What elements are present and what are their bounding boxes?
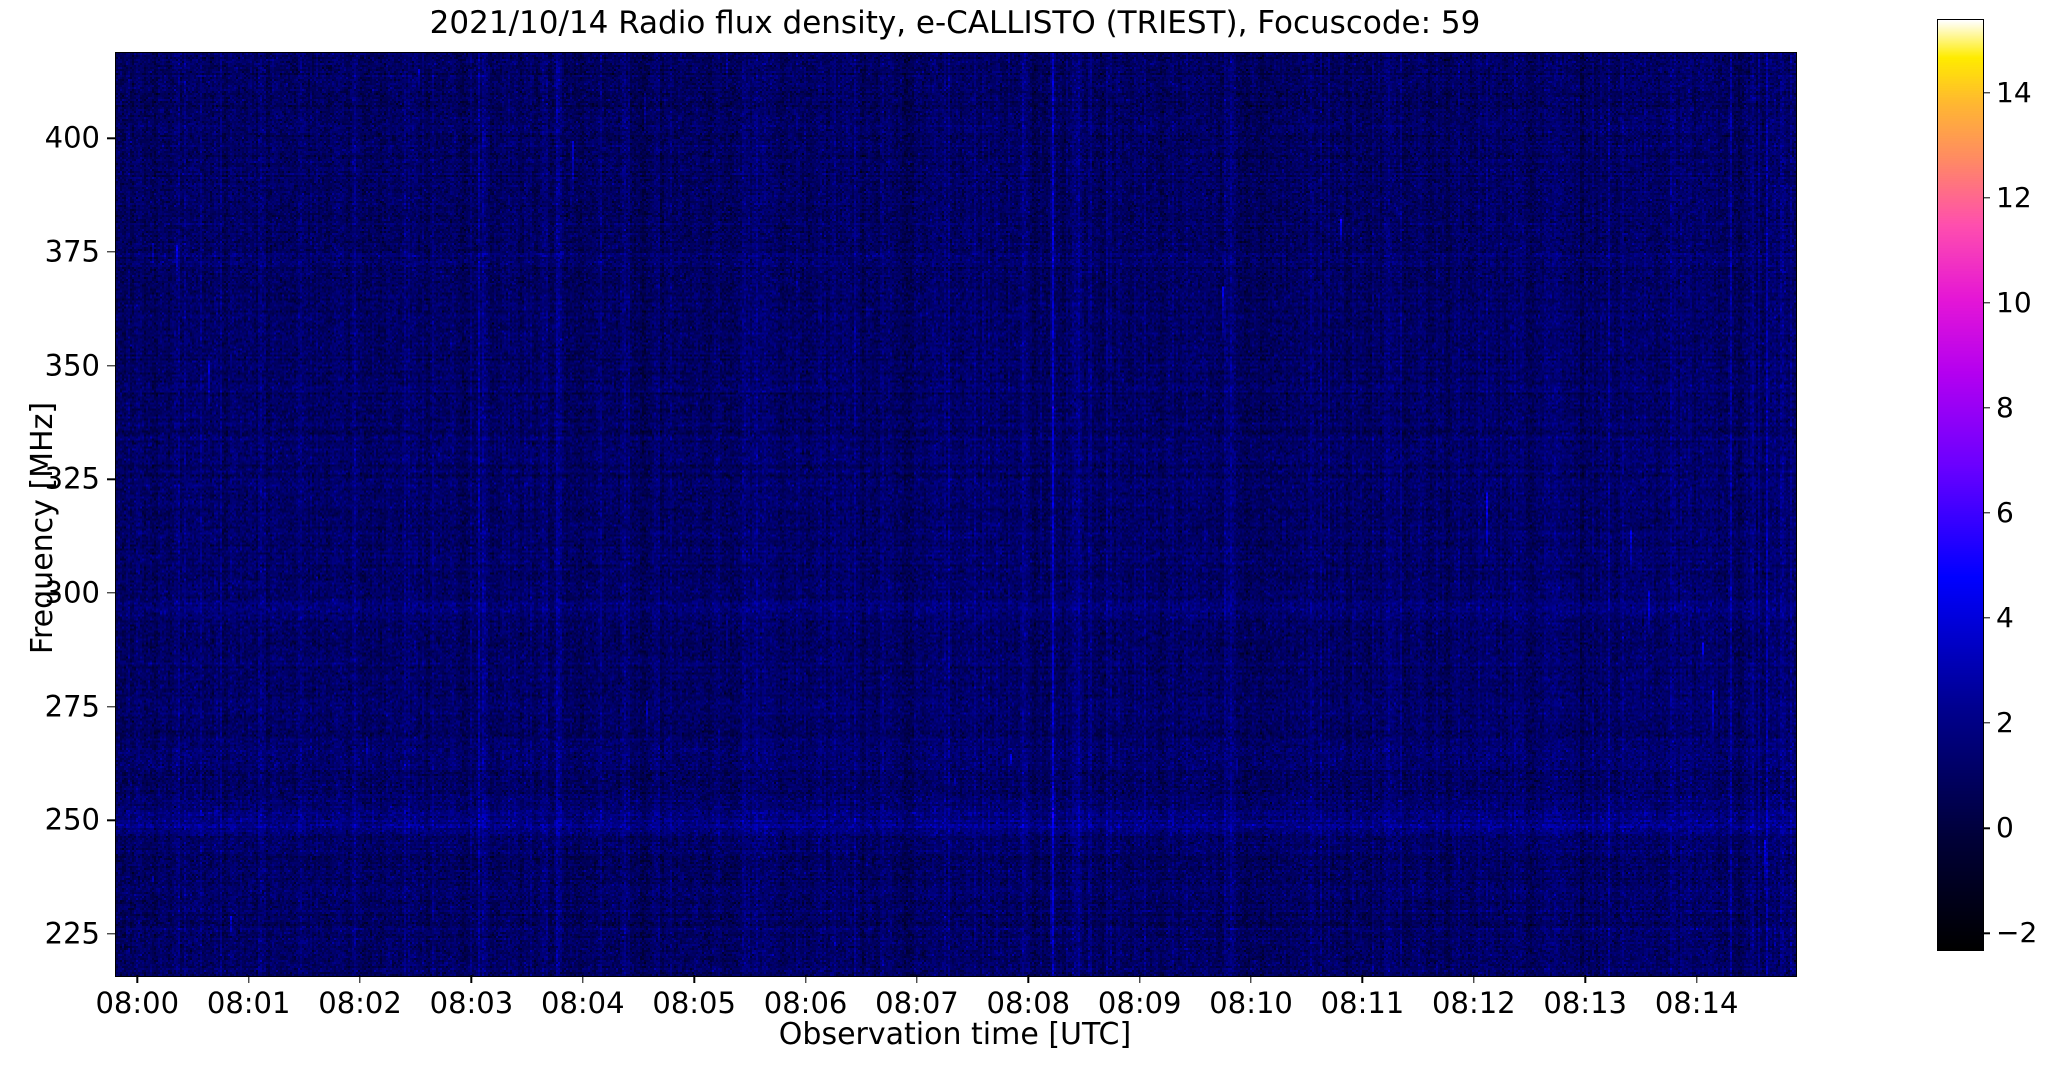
y-tick-label: 250: [5, 806, 100, 835]
x-tick-label: 08:04: [541, 989, 625, 1018]
spectrogram-image: [116, 53, 1796, 976]
colorbar-tick-label: 4: [1996, 604, 2014, 632]
colorbar-tick-label: 6: [1996, 499, 2014, 527]
x-tick-label: 08:01: [207, 989, 291, 1018]
y-tick-mark: [107, 365, 115, 366]
x-tick-label: 08:02: [318, 989, 402, 1018]
y-tick-mark: [107, 479, 115, 480]
page-title: 2021/10/14 Radio flux density, e-CALLIST…: [115, 4, 1795, 42]
spectrogram-axes: [115, 52, 1797, 977]
x-tick-label: 08:00: [95, 989, 179, 1018]
colorbar-tick-label: 12: [1996, 184, 2032, 212]
y-tick-mark: [107, 592, 115, 593]
x-tick-label: 08:14: [1655, 989, 1739, 1018]
y-tick-mark: [107, 706, 115, 707]
x-tick-label: 08:06: [764, 989, 848, 1018]
x-tick-label: 08:03: [430, 989, 514, 1018]
x-tick-label: 08:05: [652, 989, 736, 1018]
x-tick-label: 08:12: [1432, 989, 1516, 1018]
x-tick-label: 08:11: [1321, 989, 1405, 1018]
colorbar-tick-label: 8: [1996, 394, 2014, 422]
figure-canvas: 2021/10/14 Radio flux density, e-CALLIST…: [0, 0, 2066, 1067]
y-axis-label: Frequency [MHz]: [28, 248, 58, 808]
x-tick-label: 08:07: [875, 989, 959, 1018]
colorbar-tick-label: 14: [1996, 79, 2032, 107]
y-tick-mark: [107, 251, 115, 252]
y-tick-mark: [107, 933, 115, 934]
colorbar-gradient: [1938, 20, 1983, 950]
y-tick-mark: [107, 138, 115, 139]
x-tick-label: 08:08: [987, 989, 1071, 1018]
x-tick-label: 08:13: [1543, 989, 1627, 1018]
y-tick-label: 225: [5, 920, 100, 949]
y-tick-mark: [107, 820, 115, 821]
x-tick-label: 08:09: [1098, 989, 1182, 1018]
x-axis-label: Observation time [UTC]: [115, 1018, 1795, 1052]
y-tick-label: 400: [5, 124, 100, 153]
colorbar: [1937, 19, 1984, 951]
colorbar-tick-label: 10: [1996, 289, 2032, 317]
colorbar-tick-label: 0: [1996, 814, 2014, 842]
x-tick-label: 08:10: [1209, 989, 1293, 1018]
colorbar-tick-label: −2: [1996, 919, 2037, 947]
colorbar-tick-label: 2: [1996, 709, 2014, 737]
